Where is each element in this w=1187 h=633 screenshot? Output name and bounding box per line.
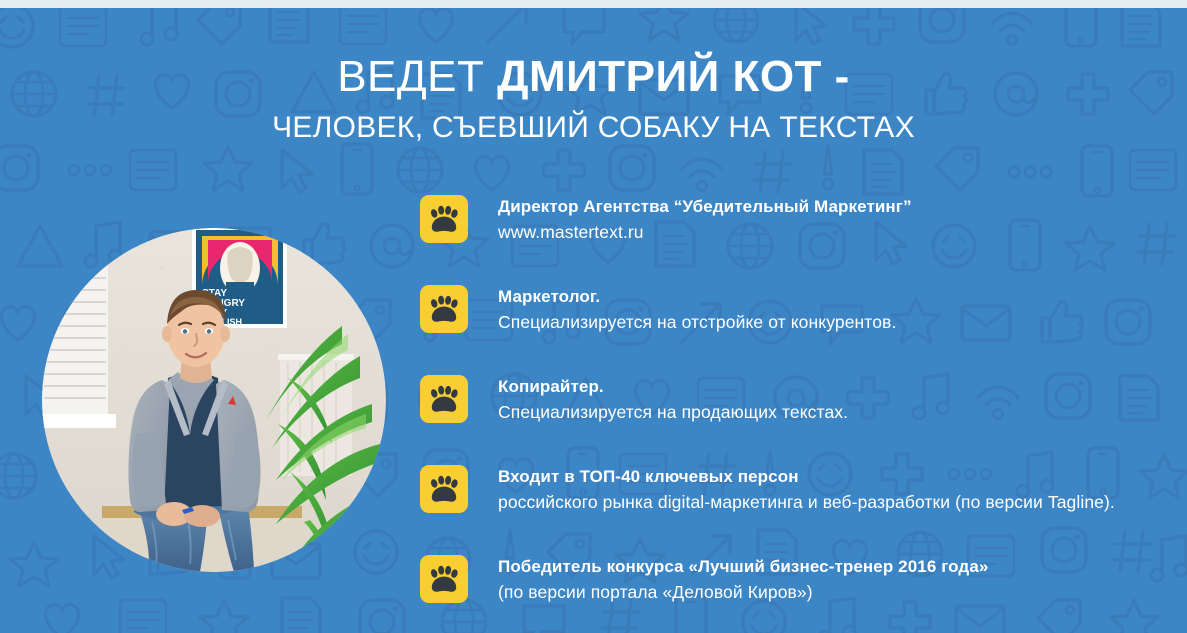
- list-item: Копирайтер. Специализируется на продающи…: [420, 375, 1115, 425]
- list-item-subtitle: Специализируется на продающих текстах.: [498, 400, 848, 425]
- list-item-subtitle: российского рынка digital-маркетинга и в…: [498, 490, 1115, 515]
- paw-icon-tile: [420, 465, 468, 513]
- paw-icon-tile: [420, 285, 468, 333]
- list-item-title: Победитель конкурса «Лучший бизнес-трене…: [498, 556, 988, 578]
- paw-icon: [429, 295, 459, 324]
- page-subtitle: ЧЕЛОВЕК, СЪЕВШИЙ СОБАКУ НА ТЕКСТАХ: [0, 110, 1187, 146]
- page-title-light: ВЕДЕТ: [337, 52, 497, 101]
- speaker-portrait-image: STAY HUNGRY STAY FOOLISH: [42, 228, 386, 572]
- paw-icon: [429, 565, 459, 594]
- list-item-title: Маркетолог.: [498, 286, 896, 308]
- headline-block: ВЕДЕТ ДМИТРИЙ КОТ - ЧЕЛОВЕК, СЪЕВШИЙ СОБ…: [0, 52, 1187, 146]
- paw-icon-tile: [420, 375, 468, 423]
- credentials-list: Директор Агентства “Убедительный Маркети…: [420, 195, 1115, 605]
- list-item-title: Директор Агентства “Убедительный Маркети…: [498, 196, 912, 218]
- paw-icon: [429, 205, 459, 234]
- speaker-portrait: STAY HUNGRY STAY FOOLISH: [42, 228, 386, 572]
- list-item: Входит в ТОП-40 ключевых персон российск…: [420, 465, 1115, 515]
- list-item-subtitle: www.mastertext.ru: [498, 220, 912, 245]
- list-item-title: Копирайтер.: [498, 376, 848, 398]
- paw-icon-tile: [420, 555, 468, 603]
- promo-banner: ВЕДЕТ ДМИТРИЙ КОТ - ЧЕЛОВЕК, СЪЕВШИЙ СОБ…: [0, 0, 1187, 633]
- page-title-bold: ДМИТРИЙ КОТ -: [497, 52, 850, 101]
- list-item-text: Входит в ТОП-40 ключевых персон российск…: [498, 465, 1115, 515]
- paw-icon-tile: [420, 195, 468, 243]
- paw-icon: [429, 385, 459, 414]
- page-title: ВЕДЕТ ДМИТРИЙ КОТ -: [0, 52, 1187, 102]
- list-item-text: Директор Агентства “Убедительный Маркети…: [498, 195, 912, 245]
- paw-icon: [429, 475, 459, 504]
- list-item-subtitle: Специализируется на отстройке от конкуре…: [498, 310, 896, 335]
- list-item-title: Входит в ТОП-40 ключевых персон: [498, 466, 1115, 488]
- list-item-text: Маркетолог. Специализируется на отстройк…: [498, 285, 896, 335]
- list-item: Маркетолог. Специализируется на отстройк…: [420, 285, 1115, 335]
- list-item: Победитель конкурса «Лучший бизнес-трене…: [420, 555, 1115, 605]
- list-item-subtitle: (по версии портала «Деловой Киров»): [498, 580, 988, 605]
- list-item-text: Победитель конкурса «Лучший бизнес-трене…: [498, 555, 988, 605]
- top-accent-strip: [0, 0, 1187, 8]
- list-item: Директор Агентства “Убедительный Маркети…: [420, 195, 1115, 245]
- list-item-text: Копирайтер. Специализируется на продающи…: [498, 375, 848, 425]
